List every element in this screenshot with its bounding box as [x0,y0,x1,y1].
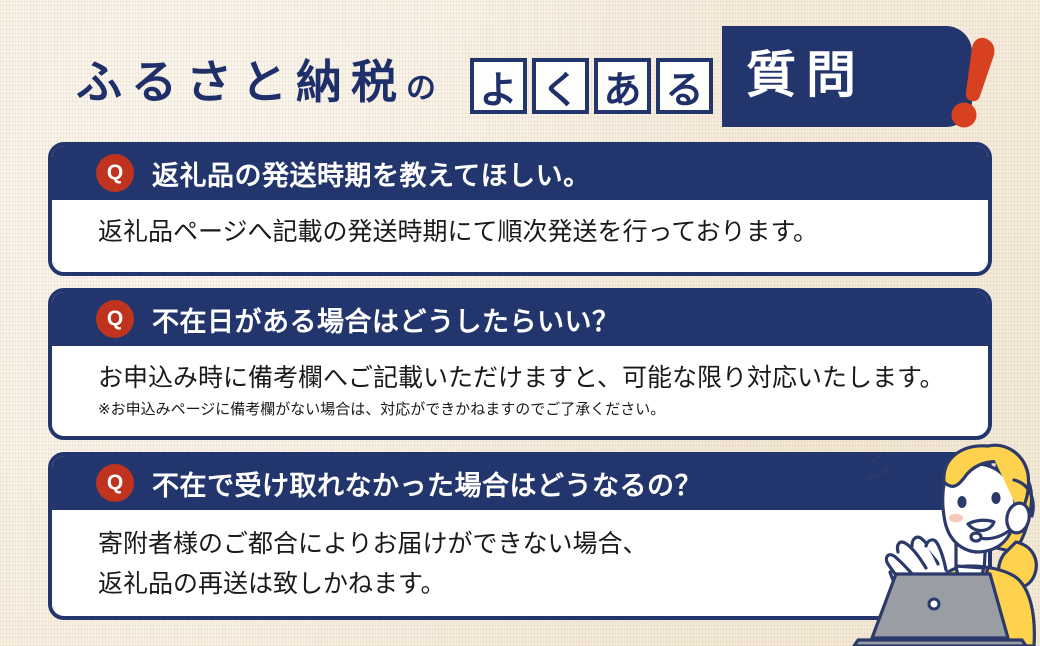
faq-card-1-answer-line-1: 返礼品ページへ記載の発送時期にて順次発送を行っております。 [98,212,988,252]
faq-card-3-question: 不在で受け取れなかった場合はどうなるの？ [152,464,702,503]
faq-card-2-question: 不在日がある場合はどうしたらいい？ [152,300,620,339]
faq-card-2-body: お申込み時に備考欄へご記載いただけますと、可能な限り対応いたします。 ※お申込み… [52,346,988,432]
boxed-char-2: く [532,58,589,114]
faq-card-1-question: 返礼品の発送時期を教えてほしい。 [152,154,591,193]
title-particle: の [406,72,438,105]
faq-card-1-body: 返礼品ページへ記載の発送時期にて順次発送を行っております。 [52,200,988,272]
faq-card-2[interactable]: Q 不在日がある場合はどうしたらいい？ お申込み時に備考欄へご記載いただけますと… [48,288,992,440]
faq-card-1-header: Q 返礼品の発送時期を教えてほしい。 [52,146,988,200]
faq-card-2-note: ※お申込みページに備考欄がない場合は、対応ができかねますのでご了承ください。 [98,398,988,422]
faq-banner: ふるさと納税の よ く あ る 質問 Q 返礼品の発送時期を教えてほしい。 返礼… [0,0,1040,646]
title-prefix: ふるさと納税 [76,56,406,108]
q-badge-icon: Q [96,464,134,502]
exclamation-mark-icon [944,34,1002,130]
faq-card-2-answer-line-1: お申込み時に備考欄へご記載いただけますと、可能な限り対応いたします。 [98,358,988,398]
banner-title: ふるさと納税の [76,56,438,115]
faq-card-1[interactable]: Q 返礼品の発送時期を教えてほしい。 返礼品ページへ記載の発送時期にて順次発送を… [48,142,992,276]
emphasis-text: 質問 [746,46,866,104]
emphasis-block: 質問 [722,26,972,127]
sparkle-icon [868,456,887,478]
boxed-char-3: あ [594,58,651,114]
boxed-characters: よ く あ る [470,58,713,114]
q-badge-icon: Q [96,300,134,338]
faq-card-2-header: Q 不在日がある場合はどうしたらいい？ [52,292,988,346]
q-badge-icon: Q [96,154,134,192]
boxed-char-4: る [656,58,713,114]
boxed-char-1: よ [470,58,527,114]
call-center-operator-illustration [838,426,1040,646]
banner-header: ふるさと納税の よ く あ る 質問 [0,0,1040,150]
